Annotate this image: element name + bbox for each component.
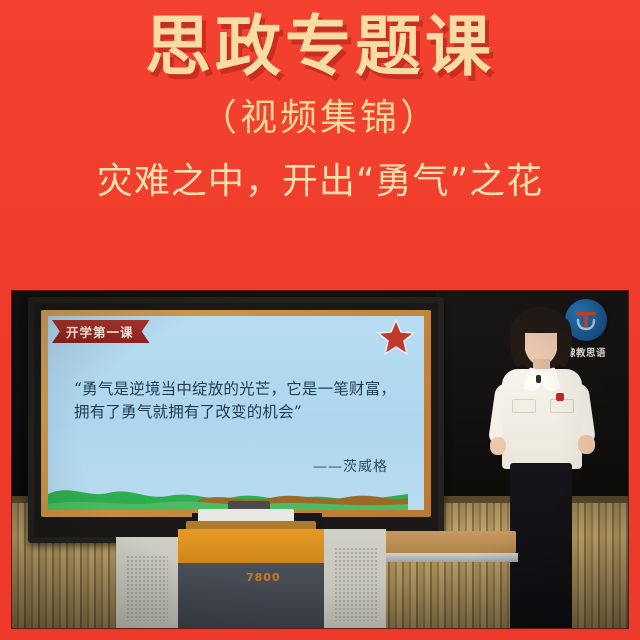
poster-header: 思政专题课 （视频集锦） 灾难之中，开出“勇气”之花: [0, 0, 640, 291]
slide-quote-text: “勇气是逆境当中绽放的光芒，它是一笔财富，拥有了勇气就拥有了改变的机会”: [74, 378, 406, 425]
teacher-blouse-pocket-right: [550, 399, 574, 413]
presentation-slide: 开学第一课 “勇气是逆境当中绽放的光芒，它是一笔财富，拥有了勇气就拥有了改变的机…: [48, 316, 424, 510]
teacher-blouse-pocket-left: [512, 399, 536, 413]
lectern-wood-panel: [178, 529, 324, 563]
teacher-hair-right: [557, 319, 572, 367]
page-tagline: 灾难之中，开出“勇气”之花: [97, 160, 543, 203]
page-subtitle: （视频集锦）: [200, 96, 440, 140]
slide-ribbon-banner: 开学第一课: [52, 320, 150, 343]
slide-attribution: ——茨威格: [313, 456, 388, 476]
classroom-photo: 开学第一课 “勇气是逆境当中绽放的光芒，它是一笔财富，拥有了勇气就拥有了改变的机…: [12, 291, 628, 628]
lectern: 7800: [116, 519, 374, 628]
poster-root: 思政专题课 （视频集锦） 灾难之中，开出“勇气”之花 开学第一课 “勇气是逆境当…: [0, 0, 640, 640]
teacher-hand-right: [578, 435, 595, 454]
side-desk: [364, 531, 516, 553]
lectern-brand-label: 7800: [246, 571, 281, 584]
teacher-hair-left: [510, 319, 525, 367]
teacher-party-pin: [556, 393, 564, 401]
teacher-hand-left: [490, 437, 506, 455]
teacher-microphone: [536, 375, 541, 383]
side-desk-rail: [368, 553, 518, 562]
lectern-grille-right: [334, 547, 378, 621]
red-star-icon: [376, 318, 416, 356]
page-title: 思政专题课: [145, 8, 495, 86]
teacher-figure: [482, 307, 602, 628]
teacher-skirt: [510, 463, 572, 628]
lectern-grille-left: [126, 555, 168, 621]
photo-inner: 开学第一课 “勇气是逆境当中绽放的光芒，它是一笔财富，拥有了勇气就拥有了改变的机…: [12, 291, 628, 628]
